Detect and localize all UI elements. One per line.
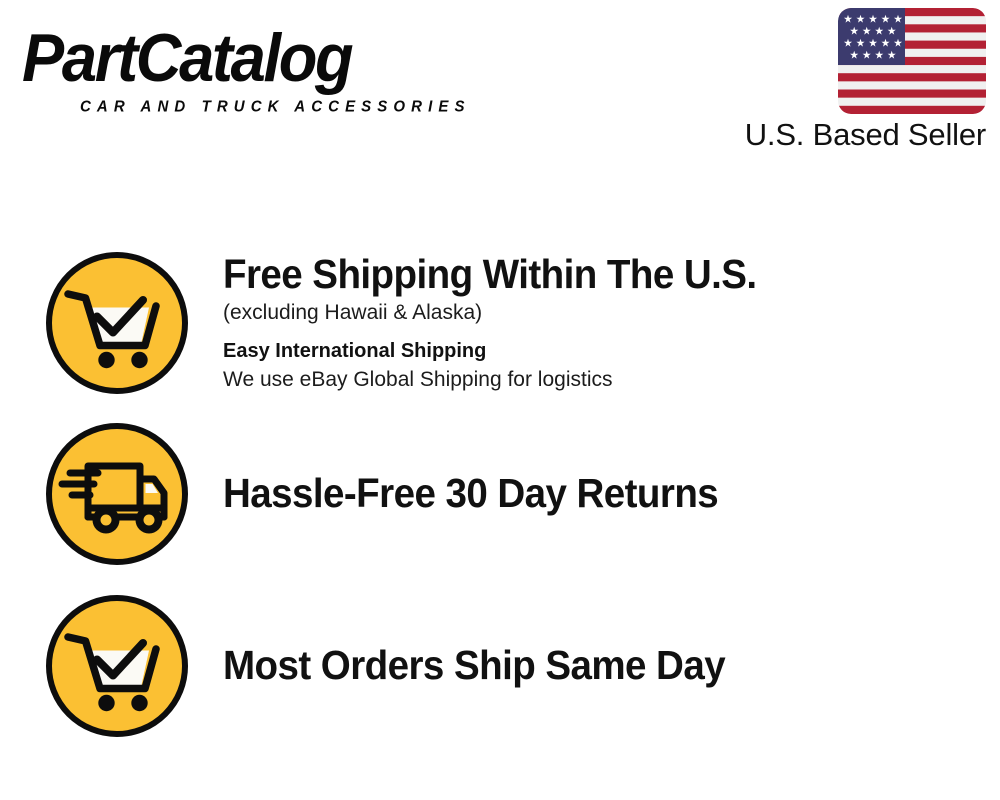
feature-title: Hassle-Free 30 Day Returns [223, 470, 929, 517]
us-based-seller-label: U.S. Based Seller [716, 118, 986, 152]
feature-subtitle-secondary: We use eBay Global Shipping for logistic… [223, 365, 974, 394]
feature-subtitle-strong: Easy International Shipping [223, 338, 974, 365]
shopping-cart-check-icon [44, 250, 190, 396]
delivery-truck-icon [44, 421, 190, 567]
feature-subtitle: (excluding Hawaii & Alaska) [223, 298, 974, 327]
feature-text-block: Hassle-Free 30 Day Returns [190, 470, 974, 519]
logo-wordmark: PartCatalog [22, 22, 459, 94]
feature-title: Free Shipping Within The U.S. [223, 251, 929, 298]
page-header: PartCatalog CAR AND TRUCK ACCESSORIES [0, 0, 1000, 175]
us-based-seller-badge: U.S. Based Seller [716, 8, 986, 152]
list-item: Hassle-Free 30 Day Returns [44, 421, 974, 567]
brand-logo[interactable]: PartCatalog CAR AND TRUCK ACCESSORIES [22, 22, 492, 122]
list-item: Free Shipping Within The U.S. (excluding… [44, 250, 974, 396]
feature-text-block: Most Orders Ship Same Day [190, 642, 974, 691]
feature-title: Most Orders Ship Same Day [223, 642, 929, 689]
feature-text-block: Free Shipping Within The U.S. (excluding… [190, 251, 974, 396]
shopping-cart-check-icon [44, 593, 190, 739]
list-item: Most Orders Ship Same Day [44, 593, 974, 739]
logo-tagline: CAR AND TRUCK ACCESSORIES [80, 98, 471, 116]
us-flag-icon [838, 8, 986, 114]
